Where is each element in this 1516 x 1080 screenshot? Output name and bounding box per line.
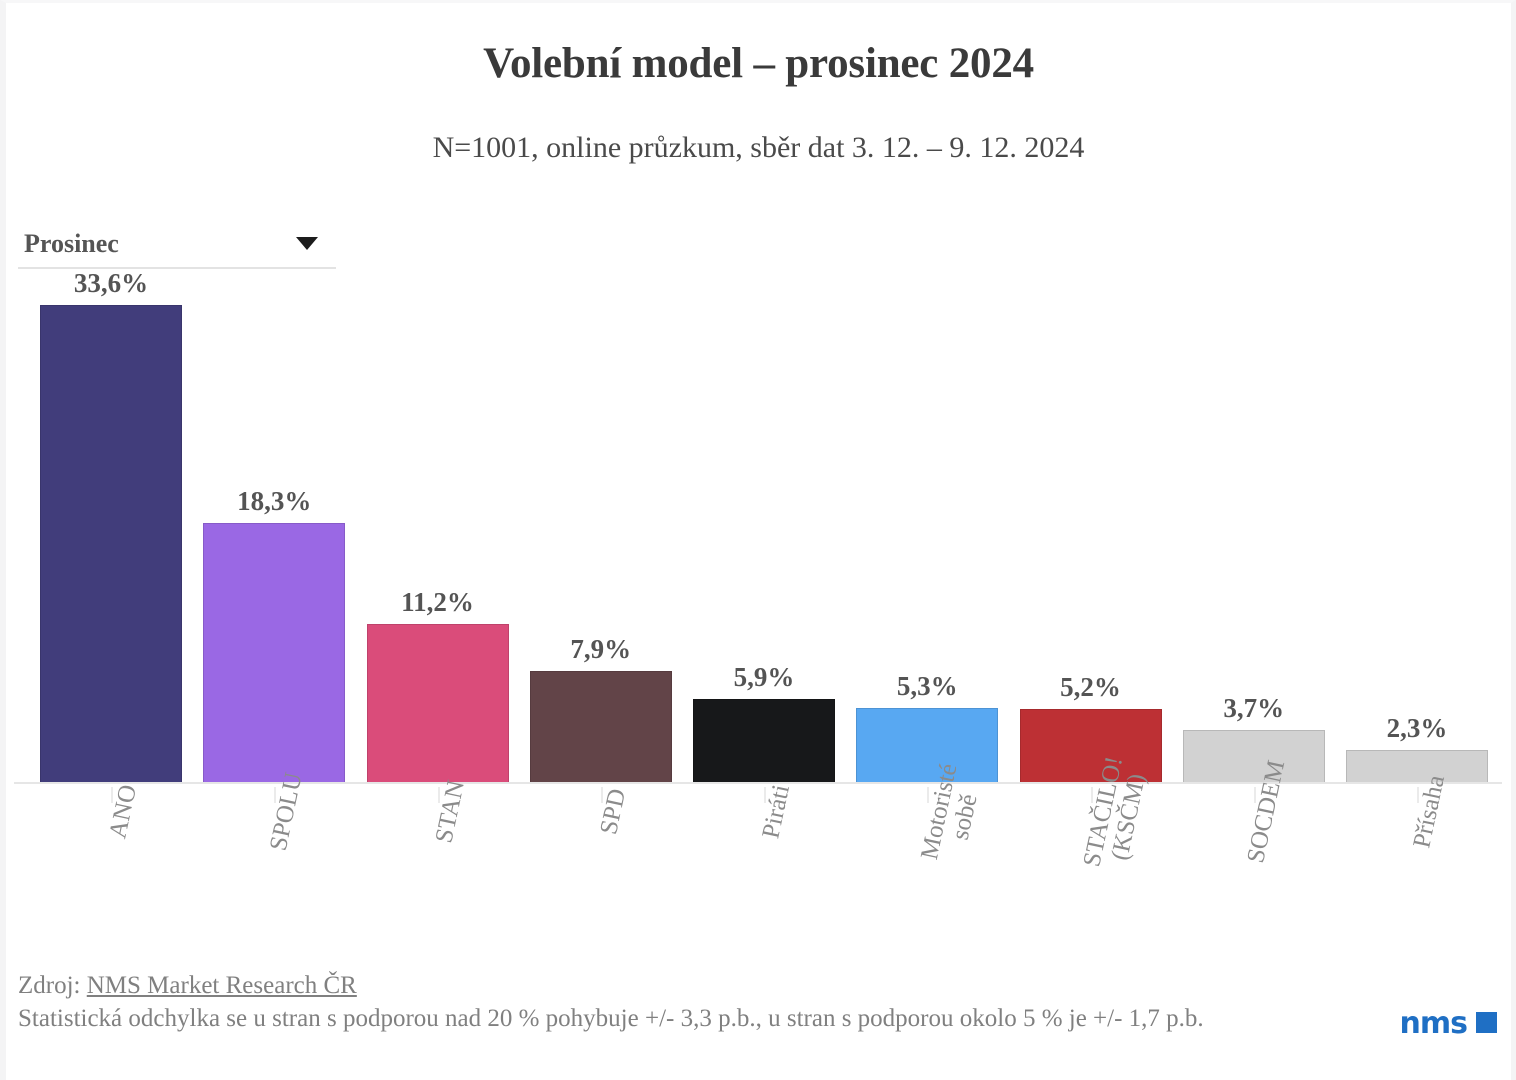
- bar[interactable]: [203, 523, 345, 783]
- page-title: Volební model – prosinec 2024: [6, 39, 1511, 88]
- source-prefix: Zdroj:: [18, 972, 87, 999]
- chevron-down-icon: [296, 237, 318, 250]
- bar-value-label: 2,3%: [1275, 713, 1516, 744]
- bar-slot: 3,7%: [1183, 303, 1325, 783]
- bar[interactable]: [693, 699, 835, 783]
- month-select-value: Prosinec: [18, 229, 119, 259]
- x-axis-label-slot: SPD: [530, 787, 672, 957]
- footer-notes: Zdroj: NMS Market Research ČR Statistick…: [18, 971, 1398, 1034]
- bar-slot: 7,9%: [530, 303, 672, 783]
- nms-logo: nms: [1400, 1006, 1497, 1041]
- bar-slot: 5,3%: [856, 303, 998, 783]
- bar[interactable]: [1346, 750, 1488, 783]
- month-select[interactable]: Prosinec: [18, 221, 336, 269]
- source-link[interactable]: NMS Market Research ČR: [87, 972, 357, 999]
- bar-value-label: 33,6%: [0, 268, 253, 299]
- chart-page: Volební model – prosinec 2024 N=1001, on…: [0, 0, 1516, 1080]
- bar[interactable]: [40, 305, 182, 783]
- margin-of-error-note: Statistická odchylka se u stran s podpor…: [18, 1004, 1398, 1035]
- page-subtitle: N=1001, online průzkum, sběr dat 3. 12. …: [6, 131, 1511, 165]
- x-axis-label-slot: Přísaha: [1346, 787, 1488, 957]
- bar-slot: 5,9%: [693, 303, 835, 783]
- x-axis-label-slot: Piráti: [693, 787, 835, 957]
- x-axis-label-slot: SOCDEM: [1183, 787, 1325, 957]
- bar-slot: 2,3%: [1346, 303, 1488, 783]
- nms-logo-square-icon: [1476, 1012, 1497, 1033]
- source-line: Zdroj: NMS Market Research ČR: [18, 971, 1398, 1002]
- x-axis-labels: ANOSPOLUSTANSPDPirátiMotoristésoběSTAČIL…: [40, 787, 1488, 957]
- bar-slot: 33,6%: [40, 303, 182, 783]
- x-axis-label-slot: STAN: [367, 787, 509, 957]
- bar-series: 33,6%18,3%11,2%7,9%5,9%5,3%5,2%3,7%2,3%: [40, 303, 1488, 783]
- bar-slot: 11,2%: [367, 303, 509, 783]
- x-axis-label-slot: ANO: [40, 787, 182, 957]
- bar-chart-plot: 33,6%18,3%11,2%7,9%5,9%5,3%5,2%3,7%2,3%: [40, 303, 1488, 783]
- x-axis-label: Přísaha: [1409, 773, 1450, 850]
- nms-logo-text: nms: [1400, 1006, 1467, 1041]
- x-axis-label-slot: STAČILO!(KSČM): [1020, 787, 1162, 957]
- x-axis-label-slot: Motoristésobě: [856, 787, 998, 957]
- bar-slot: 18,3%: [203, 303, 345, 783]
- x-axis-label-slot: SPOLU: [203, 787, 345, 957]
